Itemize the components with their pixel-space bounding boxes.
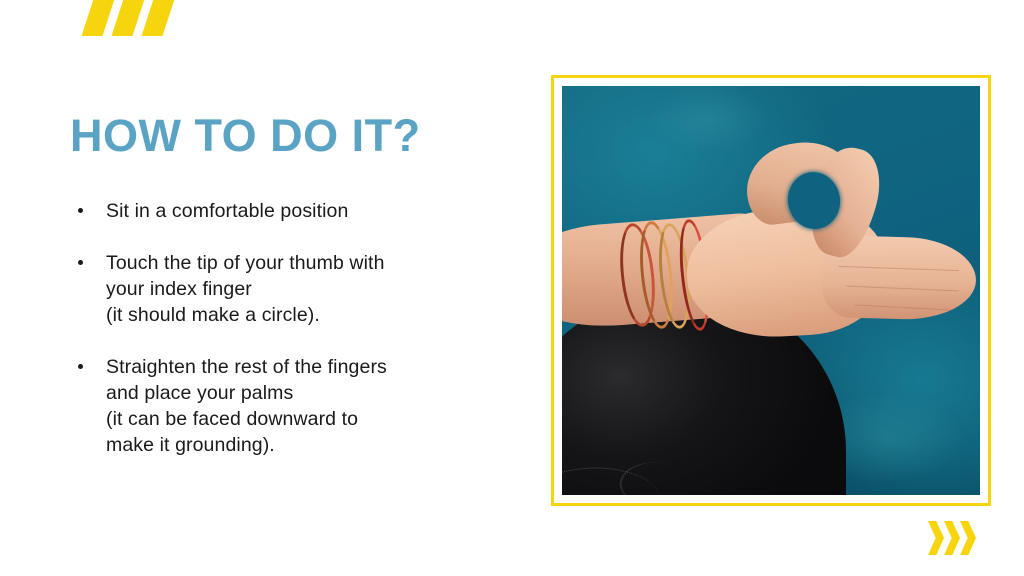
list-item-line: Straighten the rest of the fingers xyxy=(106,354,492,380)
list-item-line: (it should make a circle). xyxy=(106,302,492,328)
list-item-line: (it can be faced downward to xyxy=(106,406,492,432)
slide: HOW TO DO IT? Sit in a comfortable posit… xyxy=(0,0,1024,576)
list-item: Sit in a comfortable position xyxy=(72,198,492,224)
chevron-right-icon-1 xyxy=(928,521,944,555)
list-item: Straighten the rest of the fingers and p… xyxy=(72,354,492,458)
yellow-bar-3 xyxy=(142,0,176,36)
list-item-line: and place your palms xyxy=(106,380,492,406)
yellow-bar-1 xyxy=(82,0,116,36)
bullet-dot-icon xyxy=(78,208,83,213)
yellow-bar-2 xyxy=(112,0,146,36)
yellow-chevrons-decoration xyxy=(928,521,980,555)
photo-knee-crease xyxy=(616,455,701,495)
list-item-line: Touch the tip of your thumb with xyxy=(106,250,492,276)
instructions-list: Sit in a comfortable position Touch the … xyxy=(72,198,492,458)
yellow-slanted-bars-decoration xyxy=(84,0,184,36)
bullet-dot-icon xyxy=(78,260,83,265)
list-item-line: your index finger xyxy=(106,276,492,302)
mudra-photo xyxy=(562,86,980,495)
list-item: Touch the tip of your thumb with your in… xyxy=(72,250,492,328)
chevron-right-icon-3 xyxy=(960,521,976,555)
bullet-dot-icon xyxy=(78,364,83,369)
photo-frame xyxy=(551,75,991,506)
list-item-line: Sit in a comfortable position xyxy=(106,198,492,224)
list-item-line: make it grounding). xyxy=(106,432,492,458)
page-title: HOW TO DO IT? xyxy=(70,112,421,159)
chevron-right-icon-2 xyxy=(944,521,960,555)
